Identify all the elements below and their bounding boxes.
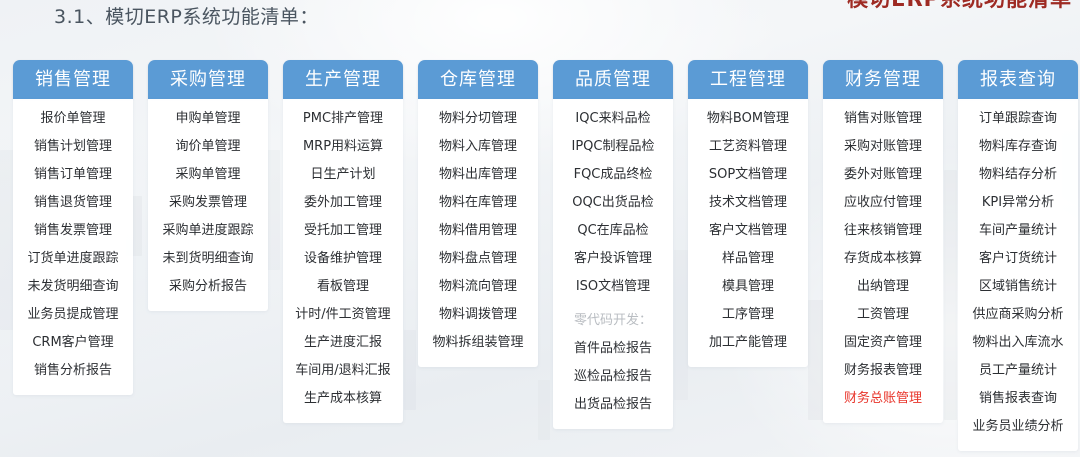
module-list-item[interactable]: 销售对账管理	[823, 105, 943, 133]
module-list-item[interactable]: 销售分析报告	[13, 357, 133, 385]
module-list-item[interactable]: 物料出库管理	[418, 161, 538, 189]
module-list-item[interactable]: 巡检品检报告	[553, 363, 673, 391]
slide-banner-title: 模切ERP系统功能清单	[847, 0, 1072, 13]
module-list-item[interactable]: MRP用料运算	[283, 133, 403, 161]
module-item-list: 物料BOM管理工艺资料管理SOP文档管理技术文档管理客户文档管理样品管理模具管理…	[688, 99, 808, 367]
module-list-item[interactable]: 员工产量统计	[958, 357, 1078, 385]
module-list-item[interactable]: IQC来料品检	[553, 105, 673, 133]
module-list-item[interactable]: 物料拆组装管理	[418, 329, 538, 357]
module-list-item[interactable]: 物料调拨管理	[418, 301, 538, 329]
module-list-item[interactable]: 未发货明细查询	[13, 273, 133, 301]
module-list-item[interactable]: 财务报表管理	[823, 357, 943, 385]
module-list-item[interactable]: 设备维护管理	[283, 245, 403, 273]
section-heading: 3.1、模切ERP系统功能清单：	[54, 2, 319, 29]
module-list-item[interactable]: ISO文档管理	[553, 273, 673, 301]
module-list-item[interactable]: 技术文档管理	[688, 189, 808, 217]
module-list-item[interactable]: 销售计划管理	[13, 133, 133, 161]
module-list-item[interactable]: 询价单管理	[148, 133, 268, 161]
module-list-item[interactable]: 物料BOM管理	[688, 105, 808, 133]
module-column: 采购管理申购单管理询价单管理采购单管理采购发票管理采购单进度跟踪未到货明细查询采…	[148, 60, 268, 311]
module-list-item[interactable]: 采购单进度跟踪	[148, 217, 268, 245]
module-list-item[interactable]: 物料盘点管理	[418, 245, 538, 273]
module-list-item[interactable]: 销售报表查询	[958, 385, 1078, 413]
module-column-grid: 销售管理报价单管理销售计划管理销售订单管理销售退货管理销售发票管理订货单进度跟踪…	[13, 60, 1078, 451]
module-list-item[interactable]: 物料库存查询	[958, 133, 1078, 161]
module-list-item[interactable]: 报价单管理	[13, 105, 133, 133]
module-list-item[interactable]: SOP文档管理	[688, 161, 808, 189]
module-column-header[interactable]: 财务管理	[823, 60, 943, 99]
module-list-item[interactable]: OQC出货品检	[553, 189, 673, 217]
module-list-item[interactable]: 未到货明细查询	[148, 245, 268, 273]
module-column-header[interactable]: 仓库管理	[418, 60, 538, 99]
module-column: 品质管理IQC来料品检IPQC制程品检FQC成品终检OQC出货品检QC在库品检客…	[553, 60, 673, 429]
module-list-item[interactable]: 出纳管理	[823, 273, 943, 301]
module-column-header[interactable]: 销售管理	[13, 60, 133, 99]
module-column: 工程管理物料BOM管理工艺资料管理SOP文档管理技术文档管理客户文档管理样品管理…	[688, 60, 808, 367]
module-list-item[interactable]: 看板管理	[283, 273, 403, 301]
module-list-item[interactable]: 车间用/退料汇报	[283, 357, 403, 385]
module-list-item[interactable]: 采购单管理	[148, 161, 268, 189]
module-list-item[interactable]: 销售订单管理	[13, 161, 133, 189]
module-list-item[interactable]: 物料出入库流水	[958, 329, 1078, 357]
module-item-list: IQC来料品检IPQC制程品检FQC成品终检OQC出货品检QC在库品检客户投诉管…	[553, 99, 673, 429]
module-list-item[interactable]: 车间产量统计	[958, 217, 1078, 245]
module-item-list: 销售对账管理采购对账管理委外对账管理应收应付管理往来核销管理存货成本核算出纳管理…	[823, 99, 943, 423]
module-list-item[interactable]: 订货单进度跟踪	[13, 245, 133, 273]
module-item-list: PMC排产管理MRP用料运算日生产计划委外加工管理受托加工管理设备维护管理看板管…	[283, 99, 403, 423]
module-list-item[interactable]: 物料入库管理	[418, 133, 538, 161]
module-list-item[interactable]: 客户订货统计	[958, 245, 1078, 273]
module-list-item[interactable]: 物料流向管理	[418, 273, 538, 301]
module-list-item[interactable]: PMC排产管理	[283, 105, 403, 133]
module-list-item[interactable]: FQC成品终检	[553, 161, 673, 189]
module-list-item[interactable]: 委外对账管理	[823, 161, 943, 189]
module-list-item[interactable]: 申购单管理	[148, 105, 268, 133]
module-item-list: 订单跟踪查询物料库存查询物料结存分析KPI异常分析车间产量统计客户订货统计区域销…	[958, 99, 1078, 451]
module-column: 生产管理PMC排产管理MRP用料运算日生产计划委外加工管理受托加工管理设备维护管…	[283, 60, 403, 423]
module-list-item[interactable]: 销售发票管理	[13, 217, 133, 245]
module-column: 仓库管理物料分切管理物料入库管理物料出库管理物料在库管理物料借用管理物料盘点管理…	[418, 60, 538, 367]
slide-canvas: 模切ERP系统功能清单 3.1、模切ERP系统功能清单： 销售管理报价单管理销售…	[0, 0, 1080, 457]
module-column: 报表查询订单跟踪查询物料库存查询物料结存分析KPI异常分析车间产量统计客户订货统…	[958, 60, 1078, 451]
module-list-item[interactable]: 工序管理	[688, 301, 808, 329]
module-list-item[interactable]: 区域销售统计	[958, 273, 1078, 301]
module-list-item[interactable]: 业务员业绩分析	[958, 413, 1078, 441]
module-column: 销售管理报价单管理销售计划管理销售订单管理销售退货管理销售发票管理订货单进度跟踪…	[13, 60, 133, 395]
module-column-header[interactable]: 工程管理	[688, 60, 808, 99]
module-column-header[interactable]: 报表查询	[958, 60, 1078, 99]
module-list-item[interactable]: 计时/件工资管理	[283, 301, 403, 329]
module-list-item[interactable]: 采购分析报告	[148, 273, 268, 301]
module-list-item[interactable]: 采购发票管理	[148, 189, 268, 217]
module-column: 财务管理销售对账管理采购对账管理委外对账管理应收应付管理往来核销管理存货成本核算…	[823, 60, 943, 423]
module-column-header[interactable]: 生产管理	[283, 60, 403, 99]
module-list-item[interactable]: QC在库品检	[553, 217, 673, 245]
module-list-item[interactable]: 物料在库管理	[418, 189, 538, 217]
module-list-item[interactable]: 物料结存分析	[958, 161, 1078, 189]
module-column-header[interactable]: 品质管理	[553, 60, 673, 99]
module-list-item[interactable]: 业务员提成管理	[13, 301, 133, 329]
module-list-item[interactable]: 样品管理	[688, 245, 808, 273]
background-texture	[0, 150, 14, 330]
module-column-header[interactable]: 采购管理	[148, 60, 268, 99]
module-list-item[interactable]: 工艺资料管理	[688, 133, 808, 161]
module-list-item[interactable]: 往来核销管理	[823, 217, 943, 245]
module-list-item[interactable]: IPQC制程品检	[553, 133, 673, 161]
module-list-item[interactable]: 销售退货管理	[13, 189, 133, 217]
module-list-item[interactable]: 应收应付管理	[823, 189, 943, 217]
module-list-item[interactable]: CRM客户管理	[13, 329, 133, 357]
module-list-item[interactable]: 物料分切管理	[418, 105, 538, 133]
module-list-item[interactable]: 存货成本核算	[823, 245, 943, 273]
module-list-item[interactable]: 采购对账管理	[823, 133, 943, 161]
module-list-item[interactable]: 财务总账管理	[823, 385, 943, 413]
module-list-item[interactable]: 生产成本核算	[283, 385, 403, 413]
module-list-item[interactable]: 客户投诉管理	[553, 245, 673, 273]
module-list-item[interactable]: 供应商采购分析	[958, 301, 1078, 329]
module-list-item[interactable]: 出货品检报告	[553, 391, 673, 419]
module-list-item[interactable]: 订单跟踪查询	[958, 105, 1078, 133]
module-item-list: 物料分切管理物料入库管理物料出库管理物料在库管理物料借用管理物料盘点管理物料流向…	[418, 99, 538, 367]
module-list-item[interactable]: 模具管理	[688, 273, 808, 301]
module-list-item[interactable]: 工资管理	[823, 301, 943, 329]
module-list-item[interactable]: 固定资产管理	[823, 329, 943, 357]
module-list-item[interactable]: KPI异常分析	[958, 189, 1078, 217]
module-list-item[interactable]: 客户文档管理	[688, 217, 808, 245]
module-list-item[interactable]: 物料借用管理	[418, 217, 538, 245]
module-list-item[interactable]: 日生产计划	[283, 161, 403, 189]
module-item-list: 报价单管理销售计划管理销售订单管理销售退货管理销售发票管理订货单进度跟踪未发货明…	[13, 99, 133, 395]
module-item-list: 申购单管理询价单管理采购单管理采购发票管理采购单进度跟踪未到货明细查询采购分析报…	[148, 99, 268, 311]
module-list-item[interactable]: 生产进度汇报	[283, 329, 403, 357]
module-list-item[interactable]: 加工产能管理	[688, 329, 808, 357]
module-list-item[interactable]: 委外加工管理	[283, 189, 403, 217]
list-group-label: 零代码开发：	[553, 307, 673, 335]
module-list-item[interactable]: 受托加工管理	[283, 217, 403, 245]
module-list-item[interactable]: 首件品检报告	[553, 335, 673, 363]
